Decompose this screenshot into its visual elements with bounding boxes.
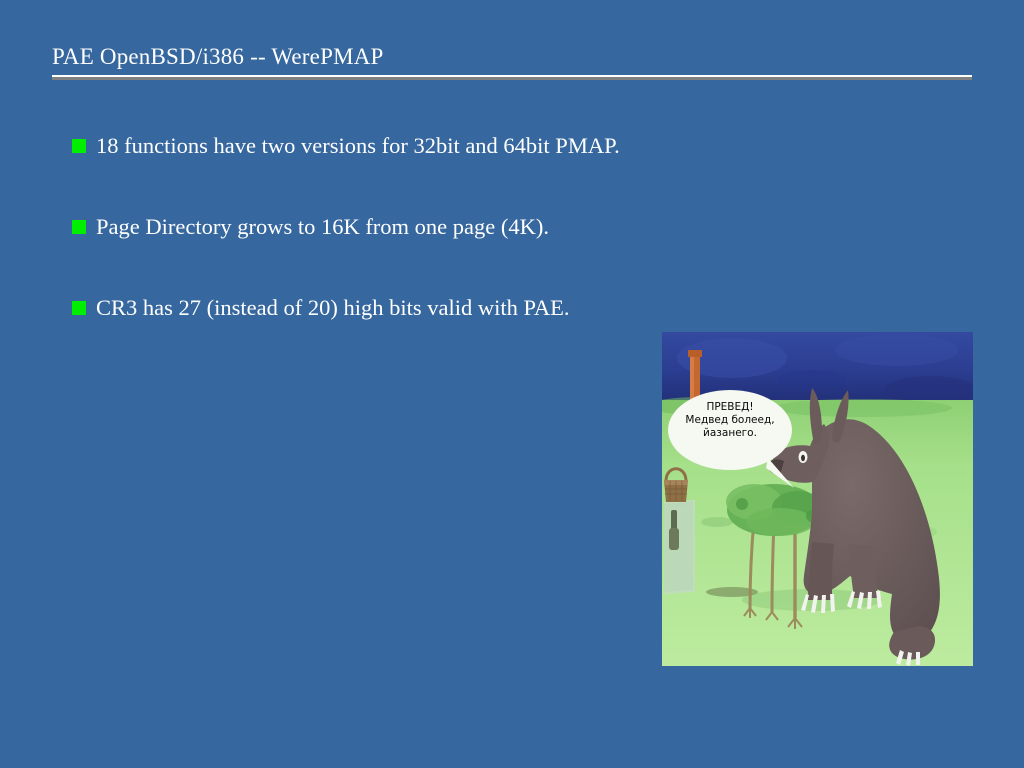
- title-divider: [52, 75, 972, 80]
- bullet-label: 18 functions have two versions for 32bit…: [96, 132, 620, 160]
- list-item: 18 functions have two versions for 32bit…: [72, 132, 952, 213]
- list-item: Page Directory grows to 16K from one pag…: [72, 213, 952, 294]
- slide-title-block: PAE OpenBSD/i386 -- WerePMAP: [52, 44, 972, 80]
- slide-canvas: PAE OpenBSD/i386 -- WerePMAP 18 function…: [0, 0, 1024, 768]
- square-bullet-icon: [72, 139, 86, 153]
- square-bullet-icon: [72, 301, 86, 315]
- preved-medved-illustration: ПРЕВЕД! Медвед болеед, йазанего.: [662, 332, 973, 666]
- page-title: PAE OpenBSD/i386 -- WerePMAP: [52, 44, 972, 70]
- illustration-artwork: [662, 332, 973, 666]
- bullet-label: CR3 has 27 (instead of 20) high bits val…: [96, 294, 570, 322]
- square-bullet-icon: [72, 220, 86, 234]
- bullet-label: Page Directory grows to 16K from one pag…: [96, 213, 549, 241]
